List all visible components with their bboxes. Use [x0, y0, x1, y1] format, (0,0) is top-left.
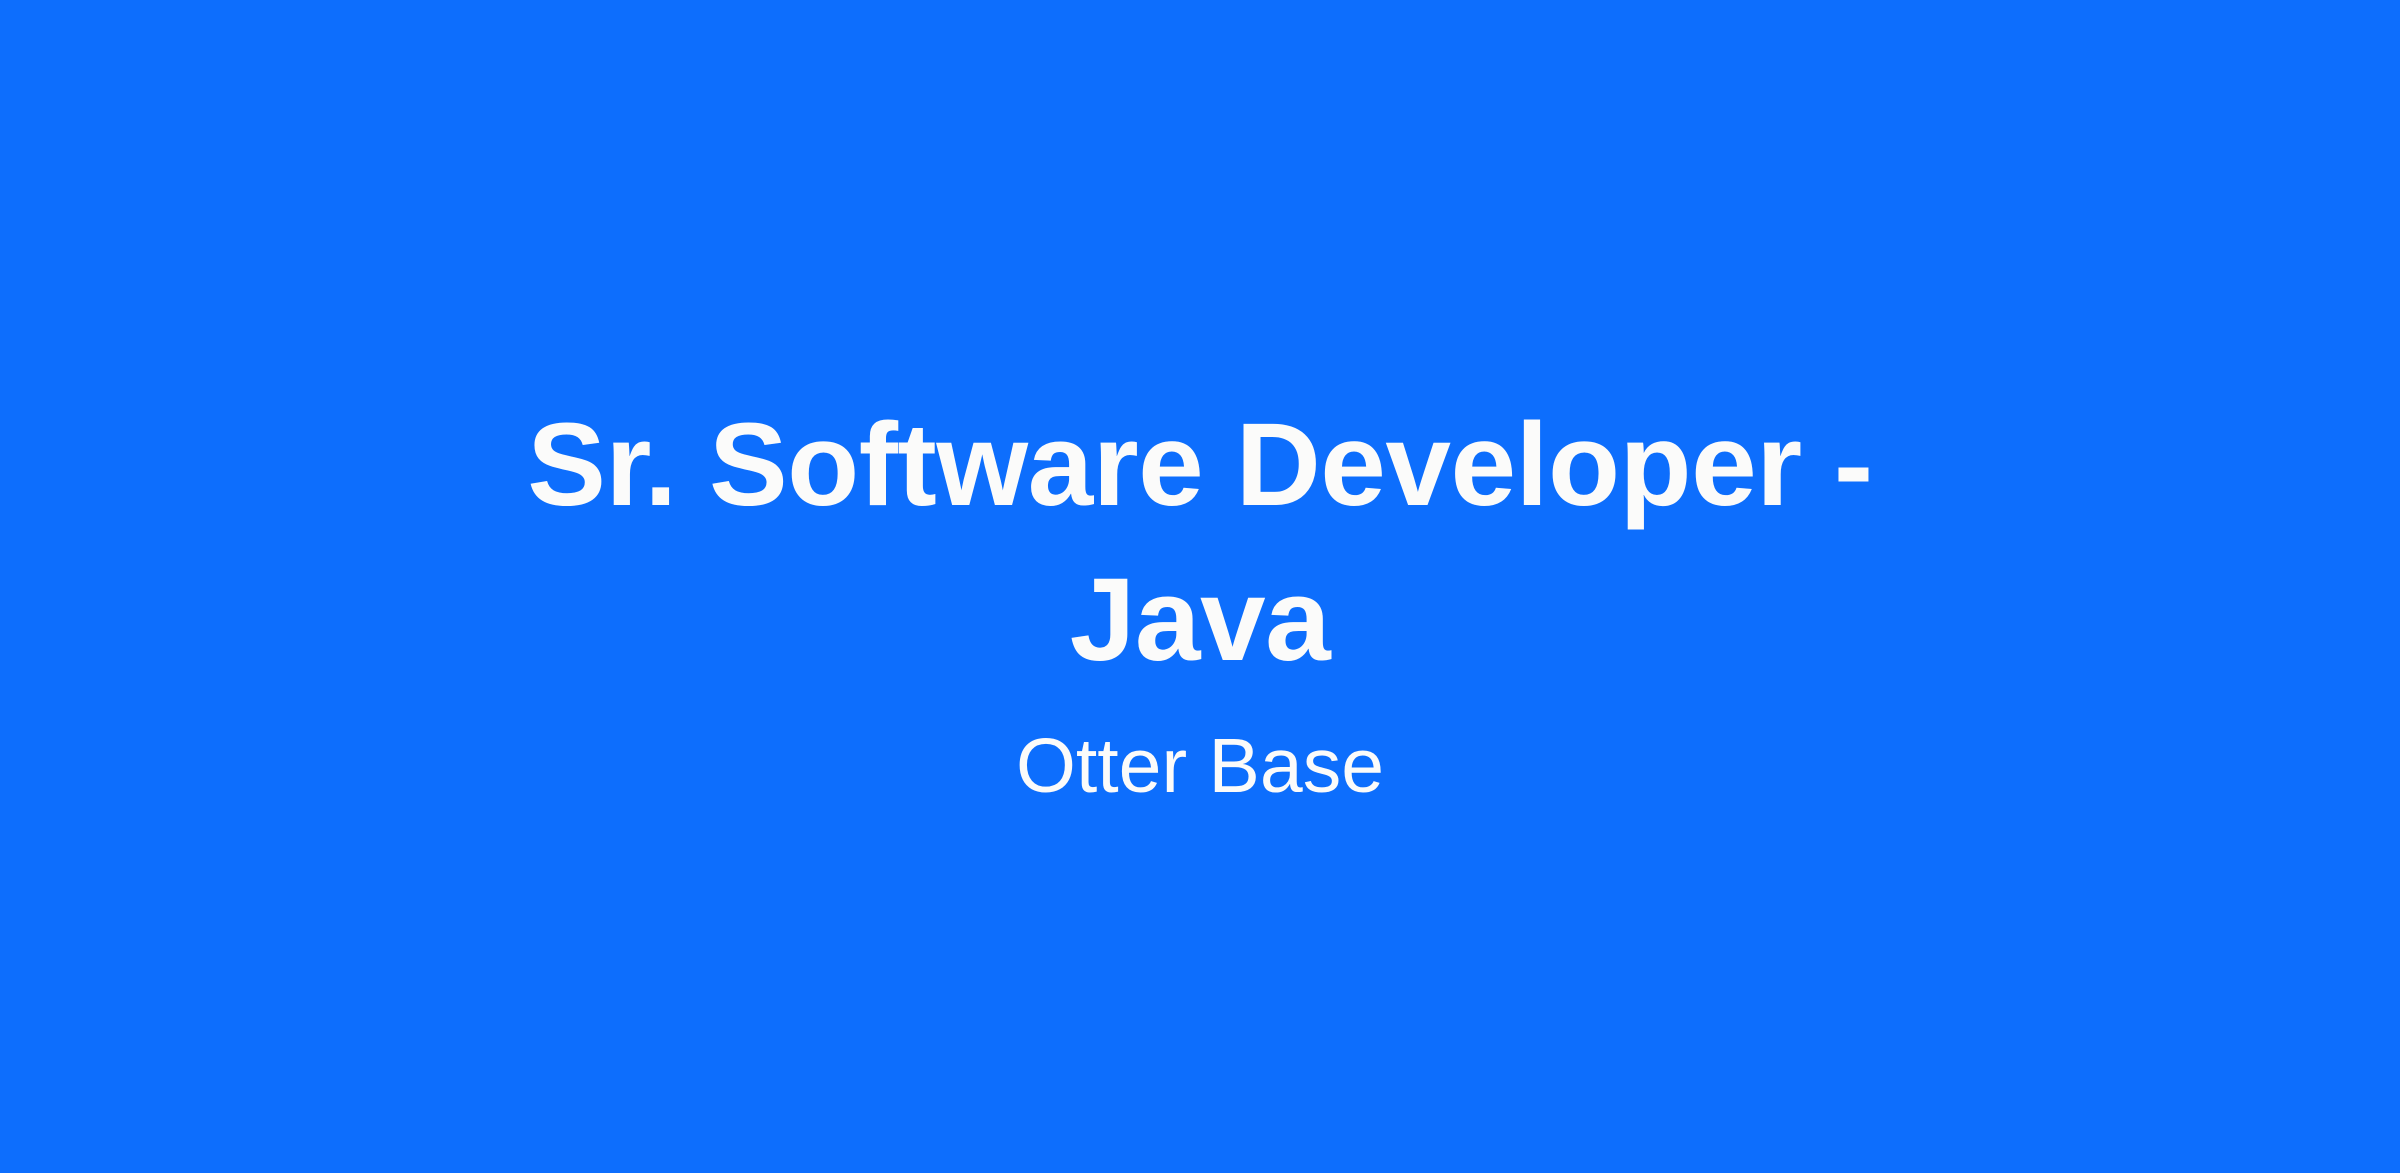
- hero-banner: Sr. Software Developer - Java Otter Base: [0, 0, 2400, 1173]
- hero-content: Sr. Software Developer - Java Otter Base: [470, 388, 1930, 812]
- company-name: Otter Base: [1016, 720, 1384, 812]
- job-title: Sr. Software Developer - Java: [480, 388, 1920, 698]
